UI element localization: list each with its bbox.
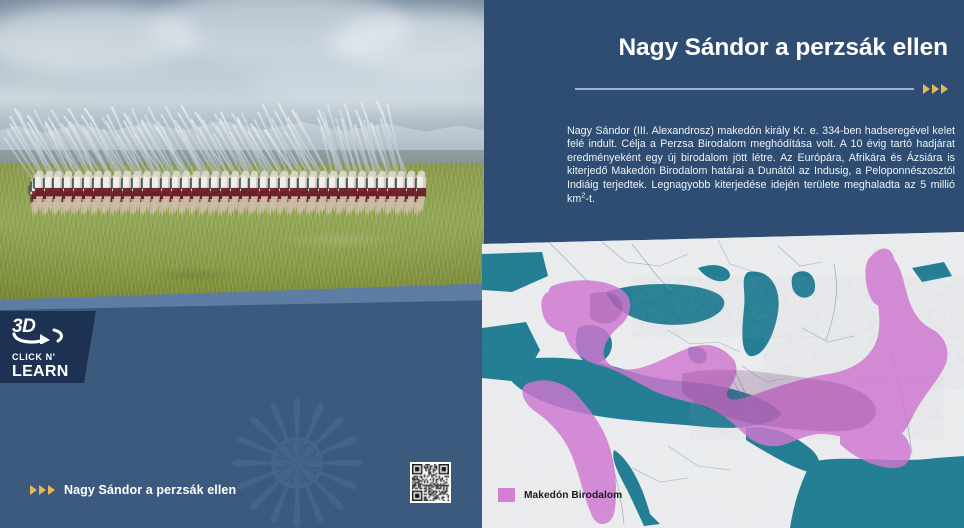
body-paragraph-tail: -t. <box>585 193 595 205</box>
logo-learn-text: LEARN <box>12 363 88 380</box>
logo-click-text: CLICK N' <box>12 352 88 363</box>
slide-root: 3D CLICK N' LEARN Nagy Sándor a perzsák … <box>0 0 964 528</box>
phalanx-illustration <box>0 0 484 300</box>
title-divider <box>575 84 948 94</box>
divider-arrows-icon <box>923 84 948 94</box>
photo-vignette <box>0 0 484 300</box>
qr-code[interactable] <box>410 462 451 503</box>
footer-title: Nagy Sándor a perzsák ellen <box>64 483 236 497</box>
brand-logo[interactable]: 3D CLICK N' LEARN <box>12 317 88 379</box>
page-title-text: Nagy Sándor a perzsák ellen <box>588 33 948 63</box>
footer-arrows-icon <box>30 485 55 495</box>
logo-swoosh-arrow <box>10 328 66 344</box>
page-title: Nagy Sándor a perzsák ellen <box>588 33 948 63</box>
vergina-sun-watermark <box>207 373 387 528</box>
body-paragraph-text: Nagy Sándor (III. Alexandrosz) makedón k… <box>567 125 955 205</box>
map-graphics <box>482 232 964 528</box>
legend-label-empire: Makedón Birodalom <box>524 490 622 501</box>
map-legend: Makedón Birodalom <box>498 488 622 502</box>
divider-line <box>575 88 914 90</box>
body-paragraph: Nagy Sándor (III. Alexandrosz) makedón k… <box>567 125 955 207</box>
empire-map[interactable]: Makedón Birodalom <box>482 232 964 528</box>
footer-bar: Nagy Sándor a perzsák ellen <box>30 483 236 497</box>
legend-swatch-empire <box>498 488 515 502</box>
